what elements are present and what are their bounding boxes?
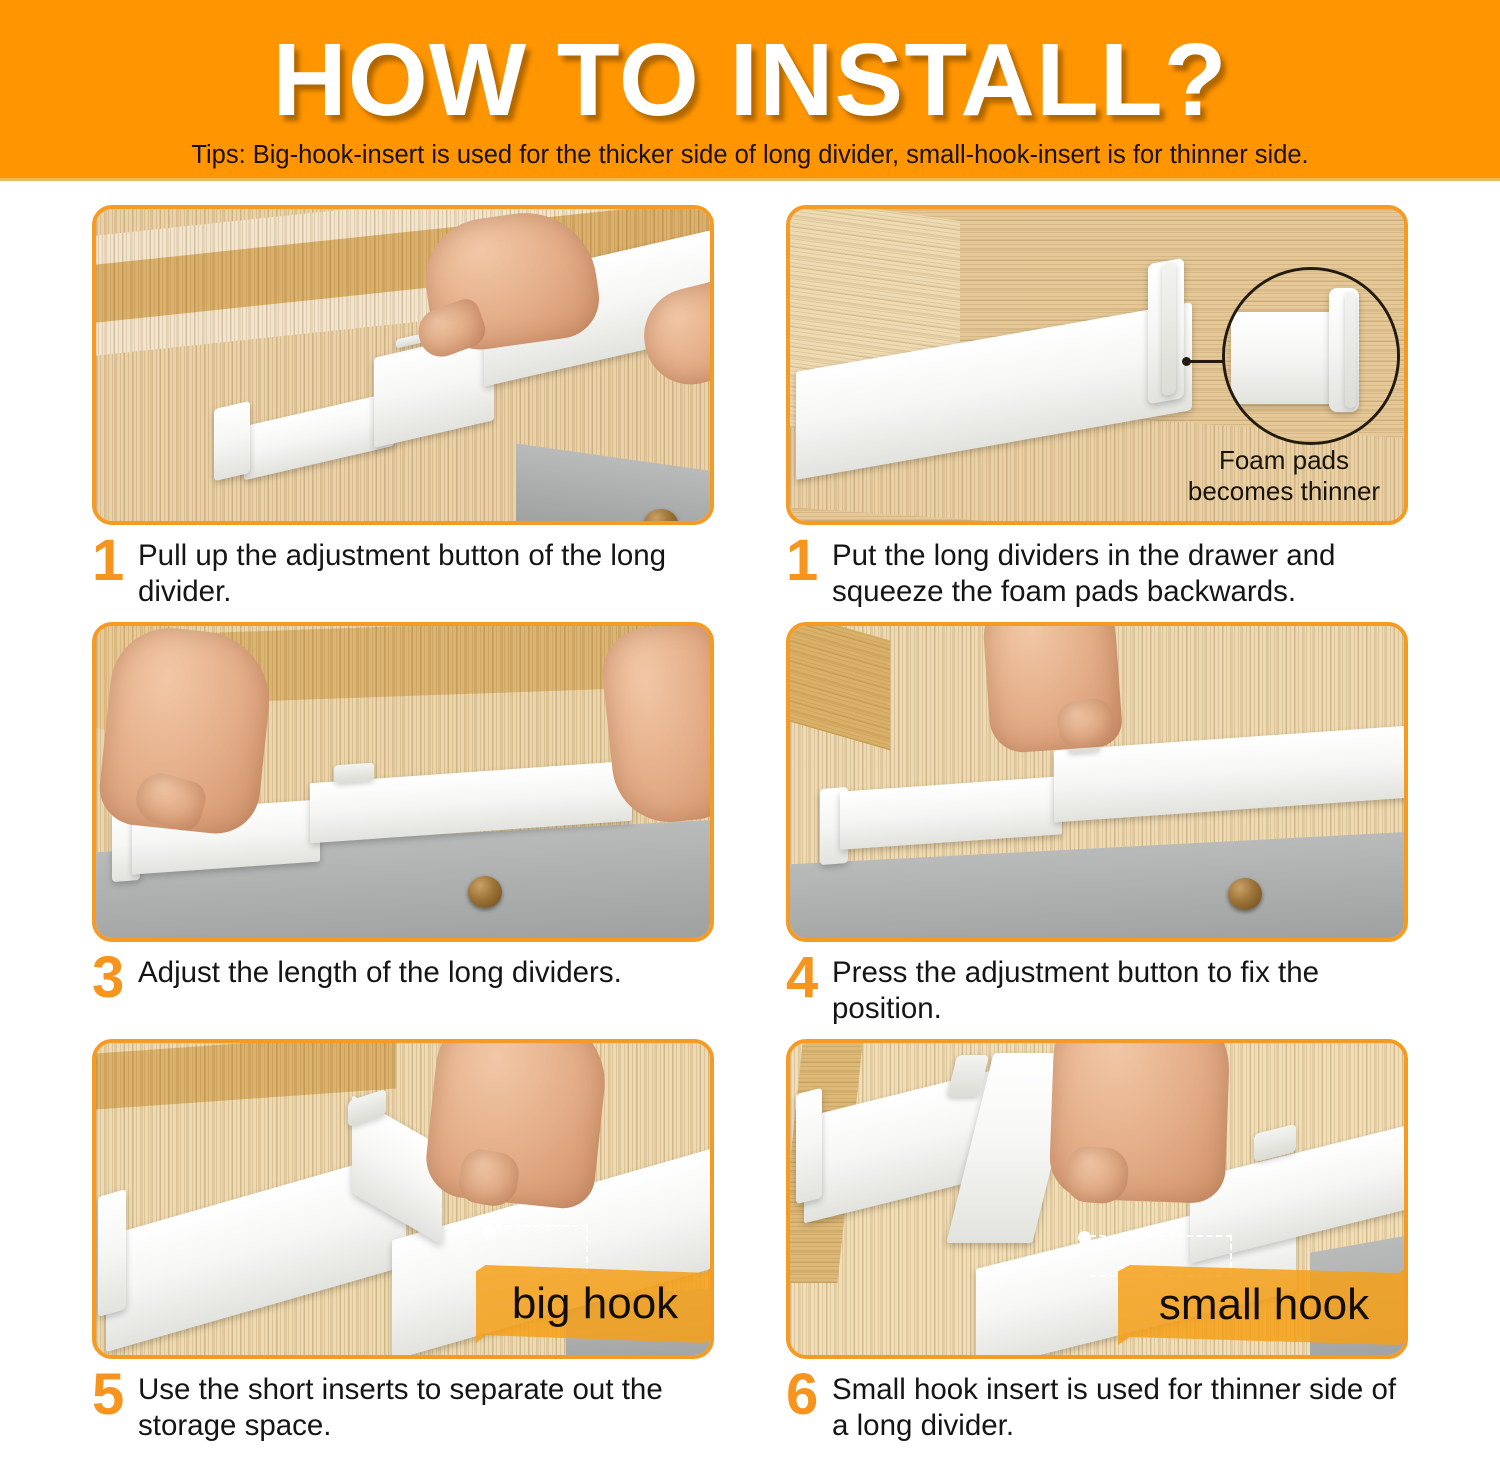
steps-row-3: big hook 5 Use the short inserts to sepa… (0, 1039, 1500, 1456)
step-number-3: 3 (92, 951, 134, 1005)
step-photo-1 (92, 205, 714, 525)
step-text-4: Press the adjustment button to fix the p… (828, 951, 1408, 1027)
step-number-6: 6 (786, 1368, 828, 1422)
step-caption-1: 1 Pull up the adjustment button of the l… (92, 525, 714, 622)
step-photo-4 (786, 622, 1408, 942)
step-card-1: 1 Pull up the adjustment button of the l… (92, 205, 714, 622)
divider-end-cap-left (214, 401, 250, 481)
step-card-6: small hook 6 Small hook insert is used f… (786, 1039, 1408, 1456)
magnified-divider-body (1231, 312, 1339, 404)
step-caption-5: 5 Use the short inserts to separate out … (92, 1359, 714, 1456)
step-text-5: Use the short inserts to separate out th… (134, 1368, 714, 1444)
foam-pad (1162, 262, 1176, 396)
foam-pads-label-line-2: becomes thinner (1156, 476, 1408, 507)
step-card-4: 4 Press the adjustment button to fix the… (786, 622, 1408, 1039)
header-tip-text: Tips: Big-hook-insert is used for the th… (0, 140, 1500, 170)
steps-grid: 1 Pull up the adjustment button of the l… (0, 181, 1500, 1456)
steps-row-1: 1 Pull up the adjustment button of the l… (0, 205, 1500, 622)
steps-row-2: 3 Adjust the length of the long dividers… (0, 622, 1500, 1039)
small-hook-ribbon-label: small hook (1159, 1283, 1369, 1327)
step-number-4: 4 (786, 951, 828, 1005)
step-text-6: Small hook insert is used for thinner si… (828, 1368, 1408, 1444)
step-text-2: Put the long dividers in the drawer and … (828, 534, 1408, 610)
step-caption-4: 4 Press the adjustment button to fix the… (786, 942, 1408, 1039)
big-hook-highlight (496, 1225, 588, 1273)
adjustment-button (334, 763, 374, 784)
big-hook-pin (482, 1225, 496, 1239)
scene-press-button (790, 626, 1404, 938)
step-photo-5: big hook (92, 1039, 714, 1359)
long-divider-rear-cap (796, 1088, 822, 1204)
step-caption-6: 6 Small hook insert is used for thinner … (786, 1359, 1408, 1456)
scene-foam-pads: Foam pads becomes thinner (790, 209, 1404, 521)
step-number-1: 1 (92, 534, 134, 588)
drawer-knob-icon (1228, 878, 1262, 910)
step-card-3: 3 Adjust the length of the long dividers… (92, 622, 714, 1039)
step-card-2: Foam pads becomes thinner 1 Put the long… (786, 205, 1408, 622)
step-photo-3 (92, 622, 714, 942)
drawer-knob-icon (468, 876, 502, 908)
step-caption-2: 1 Put the long dividers in the drawer an… (786, 525, 1408, 622)
foam-pads-label-line-1: Foam pads (1156, 445, 1408, 476)
magnifier-callout (1222, 267, 1400, 445)
step-photo-2: Foam pads becomes thinner (786, 205, 1408, 525)
step-card-5: big hook 5 Use the short inserts to sepa… (92, 1039, 714, 1456)
big-hook-ribbon: big hook (476, 1265, 714, 1343)
big-hook-ribbon-label: big hook (512, 1282, 678, 1326)
small-hook-pin (1078, 1231, 1091, 1244)
scene-small-hook: small hook (790, 1043, 1404, 1355)
header-banner: HOW TO INSTALL? Tips: Big-hook-insert is… (0, 0, 1500, 181)
scene-big-hook: big hook (96, 1043, 710, 1355)
step-number-5: 5 (92, 1368, 134, 1422)
long-divider-rear-cap (98, 1189, 126, 1317)
small-hook-ribbon: small hook (1118, 1265, 1408, 1345)
step-text-1: Pull up the adjustment button of the lon… (134, 534, 714, 610)
foam-pads-label: Foam pads becomes thinner (1156, 445, 1408, 507)
step-number-2: 1 (786, 534, 828, 588)
step-photo-6: small hook (786, 1039, 1408, 1359)
scene-adjust-length (96, 626, 710, 938)
scene-pull-up-button (96, 209, 710, 521)
magnified-foam-pad (1345, 292, 1356, 408)
page-title: HOW TO INSTALL? (0, 28, 1500, 131)
step-caption-3: 3 Adjust the length of the long dividers… (92, 942, 714, 1039)
step-text-3: Adjust the length of the long dividers. (134, 951, 622, 991)
